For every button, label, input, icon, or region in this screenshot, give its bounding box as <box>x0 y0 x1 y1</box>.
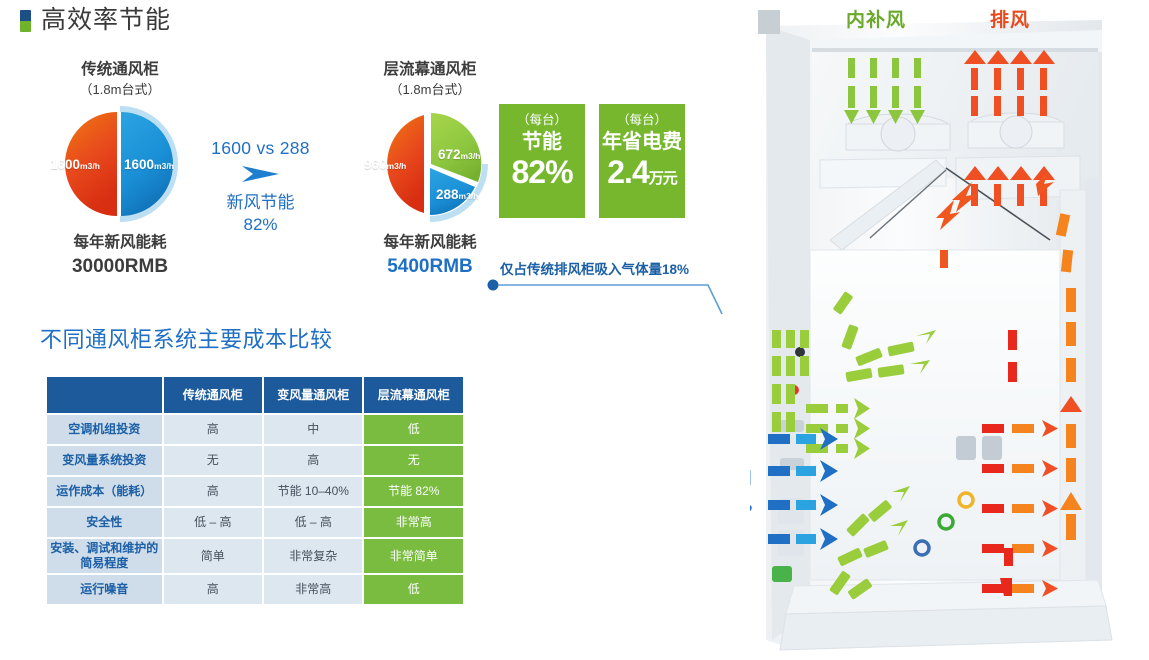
pie-footer-left: 每年新风能耗 30000RMB <box>20 232 220 280</box>
badge-caption: （每台） <box>617 113 667 128</box>
table-row-label: 运作成本（能耗） <box>47 477 162 506</box>
badge-label: 节能 <box>522 130 562 155</box>
pie-subtitle-right: （1.8m台式） <box>330 81 530 99</box>
section-title: 不同通风柜系统主要成本比较 <box>40 322 333 354</box>
table-row: 安全性 低 – 高 低 – 高 非常高 <box>47 508 463 537</box>
compare-percent: 82% <box>198 214 323 235</box>
table-cell: 非常高 <box>264 575 362 604</box>
table-row-label: 变风量系统投资 <box>47 446 162 475</box>
badge-caption: （每台） <box>517 113 567 128</box>
pie-block-traditional: 传统通风柜 （1.8m台式） <box>20 60 220 281</box>
pie-slice-label: 672m3/h <box>438 146 480 164</box>
pie-slice-label: 1600m3/h <box>124 156 174 174</box>
pie-chart-traditional: 1600m3/h 1600m3/h <box>40 104 200 224</box>
table-row: 运行噪音 高 非常高 低 <box>47 575 463 604</box>
label-exhaust-air: 排风 <box>990 5 1030 32</box>
table-header-laminar: 层流幕通风柜 <box>364 377 463 413</box>
arrow-right-icon <box>239 163 283 185</box>
table-cell: 高 <box>264 446 362 475</box>
table-row-label: 安全性 <box>47 508 162 537</box>
infographic-page: 高效率节能 传统通风柜 （1.8m台式） <box>0 0 1149 660</box>
table-cell: 无 <box>164 446 262 475</box>
page-heading: 高效率节能 <box>20 8 171 33</box>
table-cell-highlight: 节能 82% <box>364 477 463 506</box>
callout-leader-line <box>486 278 726 320</box>
table-cell-highlight: 非常简单 <box>364 539 463 573</box>
badge-label: 年省电费 <box>602 130 682 155</box>
pie-footer-value-left: 30000RMB <box>20 254 220 281</box>
table-row-label: 安装、调试和维护的简易程度 <box>47 539 162 573</box>
page-title: 高效率节能 <box>41 8 171 33</box>
badge-value: 82% <box>511 156 572 190</box>
pie-footer-label-left: 每年新风能耗 <box>20 232 220 254</box>
table-cell-highlight: 无 <box>364 446 463 475</box>
left-content-panel: 高效率节能 传统通风柜 （1.8m台式） <box>0 0 750 660</box>
comparison-callout: 1600 vs 288 新风节能 82% <box>198 138 323 235</box>
cost-comparison-table: 传统通风柜 变风量通风柜 层流幕通风柜 空调机组投资 高 中 低 变风量系统投资… <box>45 375 465 606</box>
table-row: 变风量系统投资 无 高 无 <box>47 446 463 475</box>
table-cell: 高 <box>164 575 262 604</box>
table-row-label: 空调机组投资 <box>47 415 162 444</box>
label-supply-air: 内补风 <box>846 5 906 32</box>
label-indoor-air-line2: 新风 <box>750 491 832 516</box>
table-cell: 高 <box>164 415 262 444</box>
label-indoor-air-line1: 室内 <box>750 466 832 491</box>
table-cell: 非常复杂 <box>264 539 362 573</box>
pie-slice-label: 960m3/h <box>364 156 406 174</box>
pie-subtitle-left: （1.8m台式） <box>20 81 220 99</box>
table-cell: 简单 <box>164 539 262 573</box>
table-cell: 低 – 高 <box>164 508 262 537</box>
pie-chart-laminar: 960m3/h 672m3/h 288m3/h <box>350 104 510 224</box>
fume-hood-illustration <box>750 0 1149 660</box>
pie-title-left: 传统通风柜 <box>20 60 220 81</box>
table-cell-highlight: 非常高 <box>364 508 463 537</box>
pie-title-right: 层流幕通风柜 <box>330 60 530 81</box>
pie-slice-label: 1600m3/h <box>50 156 100 174</box>
table-cell-highlight: 低 <box>364 575 463 604</box>
table-row: 空调机组投资 高 中 低 <box>47 415 463 444</box>
table-header-vav: 变风量通风柜 <box>264 377 362 413</box>
table-cell: 低 – 高 <box>264 508 362 537</box>
table-corner-cell <box>47 377 162 413</box>
table-cell: 高 <box>164 477 262 506</box>
callout-label: 仅占传统排风柜吸入气体量18% <box>500 258 689 278</box>
table-header-row: 传统通风柜 变风量通风柜 层流幕通风柜 <box>47 377 463 413</box>
table-cell: 节能 10–40% <box>264 477 362 506</box>
badge-energy-saving: （每台） 节能 82% <box>499 104 585 218</box>
savings-badges: （每台） 节能 82% （每台） 年省电费 2.4万元 <box>499 104 685 218</box>
table-cell: 中 <box>264 415 362 444</box>
table-body: 空调机组投资 高 中 低 变风量系统投资 无 高 无 运作成本（能耗） 高 节能… <box>47 415 463 604</box>
badge-value: 2.4万元 <box>607 156 677 190</box>
table-cell-highlight: 低 <box>364 415 463 444</box>
fume-hood-photo-panel: 内补风 排风 室内 新风 <box>750 0 1149 660</box>
table-row-label: 运行噪音 <box>47 575 162 604</box>
bullet-square-icon <box>20 10 31 32</box>
compare-label: 新风节能 <box>198 192 323 214</box>
table-row: 运作成本（能耗） 高 节能 10–40% 节能 82% <box>47 477 463 506</box>
pie-slice-label: 288m3/h <box>436 186 478 204</box>
pie-footer-label-right: 每年新风能耗 <box>330 232 530 254</box>
compare-ratio: 1600 vs 288 <box>198 138 323 159</box>
label-indoor-air: 室内 新风 <box>750 466 832 516</box>
table-row: 安装、调试和维护的简易程度 简单 非常复杂 非常简单 <box>47 539 463 573</box>
table-header-traditional: 传统通风柜 <box>164 377 262 413</box>
badge-cost-saving: （每台） 年省电费 2.4万元 <box>599 104 685 218</box>
